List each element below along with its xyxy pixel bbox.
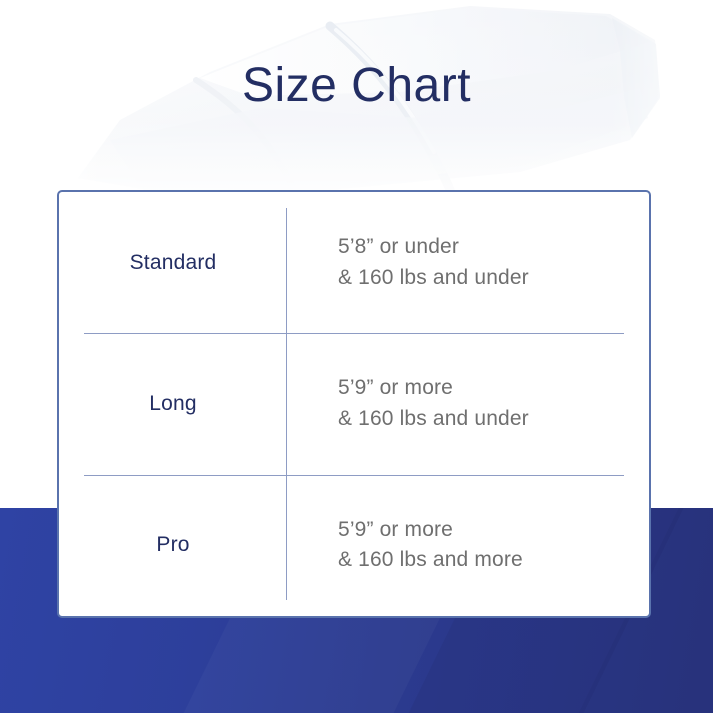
column-divider [286,208,287,600]
size-chart-card: Standard 5’8” or under & 160 lbs and und… [57,190,651,618]
table-row: Pro 5’9” or more & 160 lbs and more [59,475,649,616]
size-chart-table: Standard 5’8” or under & 160 lbs and und… [59,192,649,616]
spec-line-height: 5’9” or more [338,373,633,404]
spec-line-weight: & 160 lbs and under [338,404,633,435]
spec-line-height: 5’9” or more [338,515,633,546]
spec-long: 5’9” or more & 160 lbs and under [287,373,649,434]
spec-pro: 5’9” or more & 160 lbs and more [287,515,649,576]
size-label-pro: Pro [59,533,287,557]
size-label-standard: Standard [59,251,287,275]
table-row: Long 5’9” or more & 160 lbs and under [59,333,649,474]
spec-line-weight: & 160 lbs and under [338,263,633,294]
spec-line-weight: & 160 lbs and more [338,545,633,576]
spec-line-height: 5’8” or under [338,232,633,263]
size-chart-canvas: Size Chart Standard 5’8” or under & 160 … [0,0,713,713]
table-row: Standard 5’8” or under & 160 lbs and und… [59,192,649,333]
page-title: Size Chart [0,62,713,110]
spec-standard: 5’8” or under & 160 lbs and under [287,232,649,293]
size-label-long: Long [59,392,287,416]
